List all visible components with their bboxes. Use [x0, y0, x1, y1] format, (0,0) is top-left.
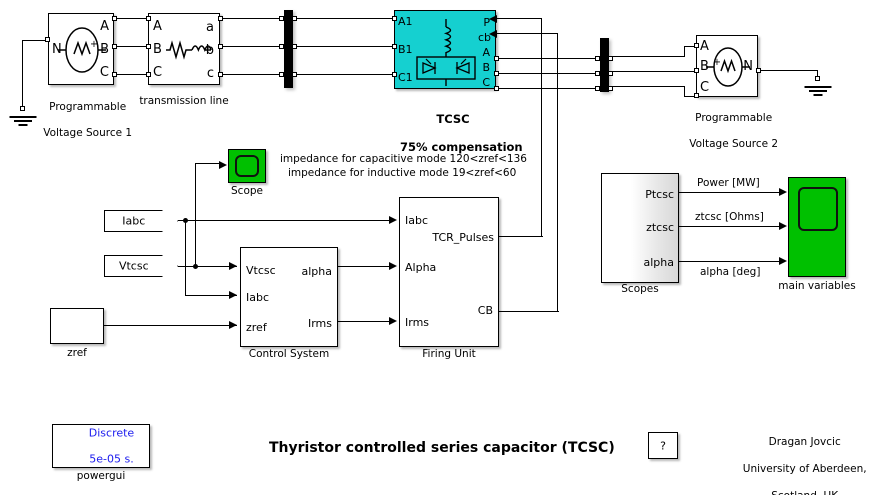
source1-caption-line1: Programmable [49, 101, 126, 113]
tcsc-port-b1-label: B1 [398, 44, 413, 55]
wire-ptcsc-to-main [679, 192, 784, 193]
block-zref[interactable] [50, 308, 104, 344]
page-title: Thyristor controlled series capacitor (T… [269, 440, 615, 456]
main-variables-screen [798, 187, 838, 231]
powergui-text-line2: 5e-05 s. [89, 453, 133, 466]
source1-port-c-label: C [100, 67, 109, 78]
busbar-left-b-in-nub [279, 44, 284, 49]
wire-tcsc-c-to-bus2 [499, 88, 599, 89]
source1-port-n-nub [45, 37, 50, 42]
wire-vtcsc-to-scope-v [195, 163, 196, 267]
powergui-text-line1: Discrete [89, 427, 134, 440]
scopes-output-alpha-label: alpha [644, 257, 675, 268]
tcsc-port-b-label: B [482, 62, 490, 73]
source2-port-a-label: A [700, 41, 709, 52]
tcsc-port-c1-label: C1 [398, 72, 413, 83]
arrow-ztcsc-to-main [779, 222, 787, 230]
tl-port-out-a-label: a [206, 22, 214, 33]
busbar-right-b-in-nub [595, 71, 600, 76]
source1-polarity-label: + [90, 39, 98, 50]
arrow-vtcsc-to-control [229, 262, 237, 270]
wire-iabc-main [178, 220, 395, 221]
wire-ztcsc-to-main [679, 226, 784, 227]
credit-line-1: Dragan Jovcic [769, 436, 841, 448]
wire-zref-to-control [104, 325, 237, 326]
control-output-alpha-label: alpha [302, 266, 333, 277]
firing-input-alpha-label: Alpha [405, 262, 436, 273]
simulink-model-canvas: N A B C + Programmable Voltage Source 1 … [0, 0, 876, 495]
block-powergui[interactable]: Discrete 5e-05 s. [52, 424, 150, 468]
source2-port-c-nub [694, 93, 699, 98]
wire-cb-v [557, 33, 558, 312]
tag-vtcsc[interactable]: Vtcsc [104, 255, 178, 277]
scopes-caption: Scopes [601, 283, 679, 296]
wire-tl-c-to-bus1 [223, 74, 281, 75]
block-programmable-voltage-source-2[interactable]: A B C N + [696, 35, 758, 97]
main-variables-caption: main variables [776, 280, 858, 293]
annotation-capacitive-mode: impedance for capacitive mode 120<zref<1… [280, 152, 527, 166]
tcsc-port-c-label: C [482, 77, 490, 88]
tl-port-in-a-nub [146, 16, 151, 21]
arrow-alpha-to-firing [389, 262, 397, 270]
help-button[interactable]: ? [648, 432, 678, 459]
powergui-caption: powergui [52, 470, 150, 483]
source2-caption-line1: Programmable [695, 112, 772, 124]
wire-tcrpulses-h2 [497, 18, 542, 19]
source2-port-b-label: B [700, 61, 709, 72]
firing-input-irms-label: Irms [405, 317, 429, 328]
firing-output-cb-label: CB [478, 305, 493, 316]
tcsc-port-a1-label: A1 [398, 16, 413, 27]
wire-bus1-to-tcsc-a1 [297, 18, 392, 19]
arrow-iabc-to-control [229, 291, 237, 299]
tcsc-caption-line1: TCSC [436, 112, 469, 126]
credit-block: Dragan Jovcic University of Aberdeen, Sc… [723, 422, 873, 495]
tl-port-in-c-label: C [153, 67, 162, 78]
busbar-left-c-in-nub [279, 72, 284, 77]
block-transmission-line[interactable]: A B C a b c [148, 13, 220, 85]
ground-right-nub [815, 76, 820, 81]
tcsc-port-b1-nub [392, 44, 397, 49]
busbar-right-c-in-nub [595, 86, 600, 91]
wire-tl-a-to-bus1 [223, 18, 281, 19]
tl-port-in-a-label: A [153, 21, 162, 32]
wire-bus2-b-h [613, 71, 696, 72]
wire-src1-a-to-tl-a [117, 18, 148, 19]
control-output-irms-label: Irms [308, 318, 332, 329]
source2-port-a-nub [694, 43, 699, 48]
control-input-zref-label: zref [246, 322, 267, 333]
scopes-output-ptcsc-label: Ptcsc [645, 189, 674, 200]
source1-port-n-label: N [52, 44, 62, 55]
tag-iabc-label: Iabc [105, 215, 163, 228]
scope-screen [235, 155, 259, 177]
tcsc-port-c1-nub [392, 72, 397, 77]
label-power-mw: Power [MW] [697, 176, 760, 190]
source1-caption-line2: Voltage Source 1 [43, 127, 132, 139]
powergui-text: Discrete 5e-05 s. [53, 414, 149, 479]
source2-polarity-label: + [713, 57, 721, 68]
wire-bus1-to-tcsc-b1 [297, 46, 392, 47]
tl-port-out-c-label: c [207, 68, 214, 79]
tl-port-out-b-label: b [206, 45, 214, 56]
wire-iabc-branch-v [185, 220, 186, 296]
wire-src2-n-to-ground-h [761, 70, 818, 71]
wire-src1-b-to-tl-b [117, 46, 148, 47]
help-button-label: ? [649, 439, 677, 452]
ground-right-icon [804, 82, 831, 96]
label-alpha-deg: alpha [deg] [700, 265, 760, 279]
scope-caption: Scope [207, 185, 287, 198]
busbar-right[interactable] [600, 38, 609, 92]
control-input-iabc-label: Iabc [246, 292, 269, 303]
arrow-alpha-to-main [779, 257, 787, 265]
tcsc-port-cb-arrow [489, 30, 497, 38]
arrow-ptcsc-to-main [779, 188, 787, 196]
label-ztcsc-ohms: ztcsc [Ohms] [695, 210, 764, 224]
wire-bus2-a-v [684, 46, 685, 57]
wire-irms-to-firing [338, 321, 395, 322]
wire-cb-h1 [499, 311, 559, 312]
wire-cb-h2 [497, 33, 558, 34]
arrow-irms-to-firing [389, 317, 397, 325]
wire-alpha-to-firing [338, 266, 395, 267]
source1-caption: Programmable Voltage Source 1 [20, 88, 142, 153]
block-programmable-voltage-source-1[interactable]: N A B C + [48, 13, 114, 85]
credit-line-3: Scotland, UK [771, 490, 838, 495]
block-firing-unit[interactable]: Iabc Alpha Irms TCR_Pulses CB [399, 197, 499, 347]
source1-port-b-label: B [100, 44, 109, 55]
zref-caption: zref [42, 347, 112, 360]
wire-tcrpulses-h1 [499, 236, 543, 237]
wire-vtcsc-to-scope-h [195, 163, 221, 164]
tag-iabc[interactable]: Iabc [104, 210, 178, 232]
wire-bus2-c-h1 [613, 86, 685, 87]
annotation-inductive-mode: impedance for inductive mode 19<zref<60 [288, 166, 516, 180]
source2-caption-line2: Voltage Source 2 [689, 138, 778, 150]
block-control-system[interactable]: Vtcsc Iabc zref alpha Irms [240, 247, 338, 347]
firing-input-iabc-label: Iabc [405, 215, 428, 226]
source2-port-n-label: N [743, 61, 753, 72]
transmission-line-caption: transmission line [134, 95, 234, 108]
tcsc-port-a1-nub [392, 16, 397, 21]
arrow-iabc-to-firing [389, 216, 397, 224]
block-tcsc[interactable]: A1 B1 C1 P cb A B C [394, 10, 496, 89]
wire-alpha-to-main [679, 261, 784, 262]
block-scopes[interactable]: Ptcsc ztcsc alpha [601, 173, 679, 283]
block-scope[interactable] [228, 149, 266, 183]
credit-line-2: University of Aberdeen, [743, 463, 867, 475]
tl-port-in-c-nub [146, 72, 151, 77]
busbar-left-a-in-nub [279, 16, 284, 21]
firing-output-tcr-pulses-label: TCR_Pulses [432, 232, 494, 243]
control-input-vtcsc-label: Vtcsc [246, 265, 276, 276]
scopes-output-ztcsc-label: ztcsc [646, 222, 674, 233]
wire-tcsc-a-to-bus2 [499, 58, 599, 59]
busbar-right-a-in-nub [595, 56, 600, 61]
wire-tcsc-b-to-bus2 [499, 73, 599, 74]
wire-tl-b-to-bus1 [223, 46, 281, 47]
wire-src1-c-to-tl-c [117, 74, 148, 75]
tl-port-in-b-nub [146, 44, 151, 49]
block-main-variables[interactable] [788, 177, 846, 277]
wire-bus1-to-tcsc-c1 [297, 74, 392, 75]
source1-port-a-label: A [100, 21, 109, 32]
source2-caption: Programmable Voltage Source 2 [669, 99, 785, 164]
source2-port-c-label: C [700, 82, 709, 93]
wire-bus2-a-h1 [613, 56, 685, 57]
tcsc-port-p-arrow [489, 15, 497, 23]
arrow-zref-to-control [229, 321, 237, 329]
source2-port-b-nub [694, 68, 699, 73]
firing-unit-caption: Firing Unit [399, 348, 499, 361]
wire-tcrpulses-v [541, 18, 542, 237]
tag-vtcsc-label: Vtcsc [105, 260, 163, 273]
control-system-caption: Control System [240, 348, 338, 361]
tcsc-port-a-label: A [482, 47, 490, 58]
tl-port-in-b-label: B [153, 44, 162, 55]
